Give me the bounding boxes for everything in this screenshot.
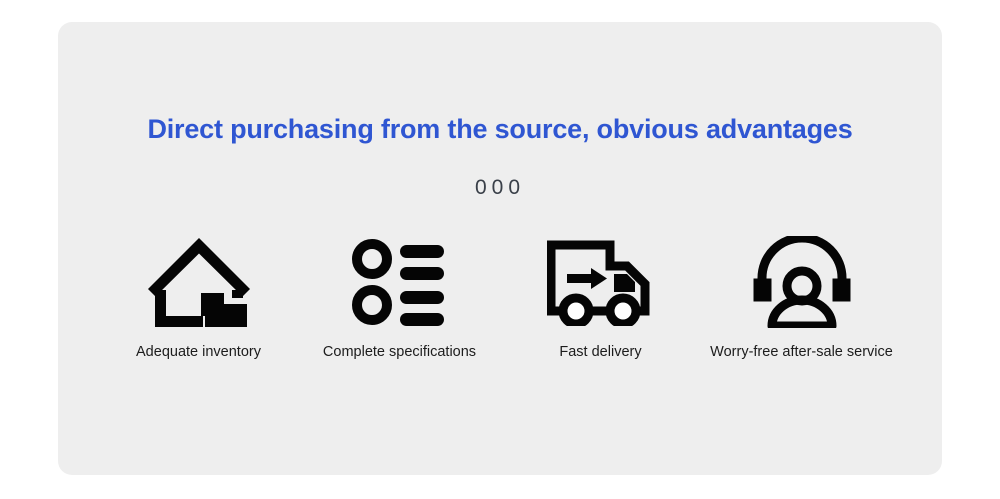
feature-label: Adequate inventory bbox=[136, 344, 261, 360]
headset-support-agent-icon bbox=[750, 234, 854, 330]
feature-label: Fast delivery bbox=[559, 344, 641, 360]
warehouse-house-boxes-icon bbox=[147, 234, 251, 330]
feature-item-delivery: Fast delivery bbox=[500, 234, 701, 360]
features-row: Adequate inventory bbox=[58, 234, 942, 360]
advantages-banner-page: Direct purchasing from the source, obvio… bbox=[0, 0, 1000, 499]
feature-item-after-sale: Worry-free after-sale service bbox=[701, 234, 902, 360]
delivery-truck-icon bbox=[547, 234, 655, 330]
feature-item-inventory: Adequate inventory bbox=[98, 234, 299, 360]
specification-list-icon bbox=[350, 234, 450, 330]
feature-label: Complete specifications bbox=[323, 344, 476, 360]
feature-label: Worry-free after-sale service bbox=[710, 344, 893, 360]
title-ornament: 000 bbox=[58, 176, 942, 200]
feature-item-specifications: Complete specifications bbox=[299, 234, 500, 360]
page-title: Direct purchasing from the source, obvio… bbox=[58, 114, 942, 145]
advantages-card: Direct purchasing from the source, obvio… bbox=[58, 22, 942, 475]
